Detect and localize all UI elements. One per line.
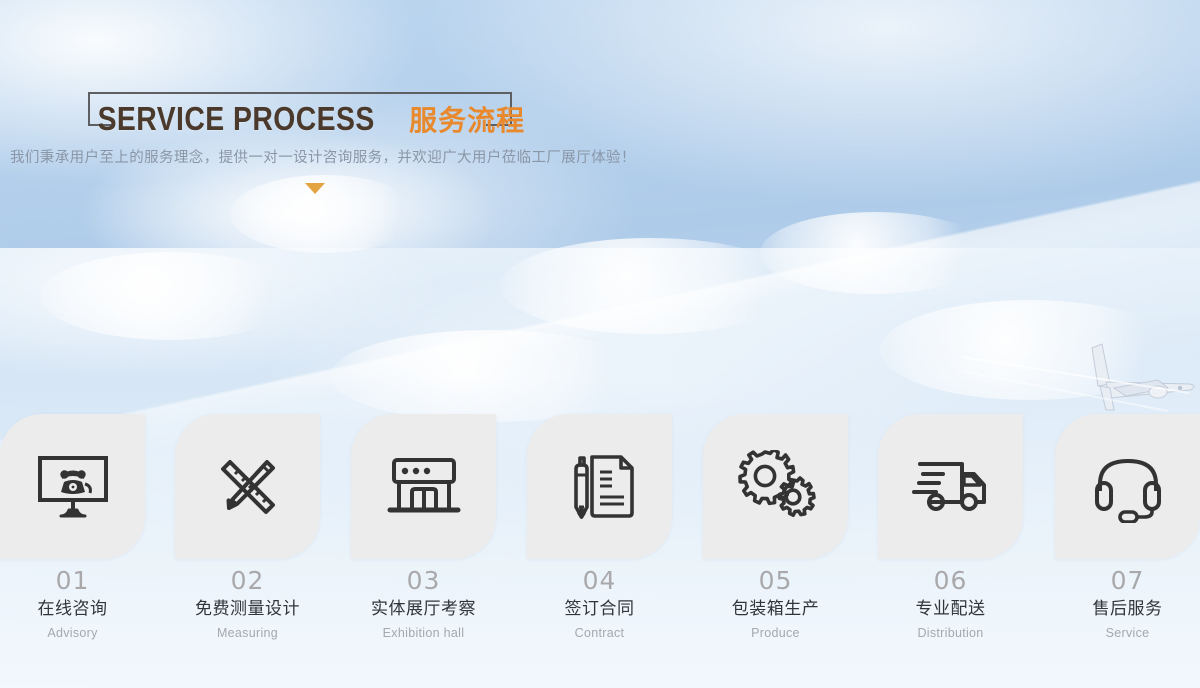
step-number: 02 (175, 566, 320, 596)
step-card-01[interactable] (0, 414, 145, 559)
step-card-02[interactable] (175, 414, 320, 559)
step-label-row: 01 在线咨询 Advisory 02 免费测量设计 Measuring 03 … (0, 566, 1200, 666)
step-card-07[interactable] (1055, 414, 1200, 559)
step-number: 01 (0, 566, 145, 596)
section-heading: SERVICE PROCESS 服务流程 (88, 92, 512, 146)
step-number: 05 (703, 566, 848, 596)
step-label-07: 07 售后服务 Service (1055, 566, 1200, 643)
step-number: 06 (878, 566, 1023, 596)
step-title-cn: 售后服务 (1055, 596, 1200, 623)
gears-icon (736, 450, 816, 524)
step-label-06: 06 专业配送 Distribution (878, 566, 1023, 643)
triangle-down-icon (305, 183, 325, 194)
step-card-03[interactable] (351, 414, 496, 559)
page-title: SERVICE PROCESS 服务流程 (88, 92, 512, 146)
step-label-04: 04 签订合同 Contract (527, 566, 672, 643)
step-card-04[interactable] (527, 414, 672, 559)
step-card-05[interactable] (703, 414, 848, 559)
step-title-cn: 签订合同 (527, 596, 672, 623)
step-title-cn: 在线咨询 (0, 596, 145, 623)
service-process-banner: SERVICE PROCESS 服务流程 我们秉承用户至上的服务理念，提供一对一… (0, 0, 1200, 688)
step-title-en: Contract (527, 623, 672, 643)
step-label-03: 03 实体展厅考察 Exhibition hall (351, 566, 496, 643)
step-label-02: 02 免费测量设计 Measuring (175, 566, 320, 643)
step-title-cn: 包装箱生产 (703, 596, 848, 623)
step-label-01: 01 在线咨询 Advisory (0, 566, 145, 643)
step-title-en: Distribution (878, 623, 1023, 643)
title-chinese: 服务流程 (409, 99, 525, 139)
step-card-row (0, 414, 1200, 559)
step-title-en: Exhibition hall (351, 623, 496, 643)
step-title-en: Measuring (175, 623, 320, 643)
step-title-en: Advisory (0, 623, 145, 643)
step-number: 07 (1055, 566, 1200, 596)
step-number: 03 (351, 566, 496, 596)
step-title-en: Service (1055, 623, 1200, 643)
step-label-05: 05 包装箱生产 Produce (703, 566, 848, 643)
section-subtitle: 我们秉承用户至上的服务理念，提供一对一设计咨询服务，并欢迎广大用户莅临工厂展厅体… (10, 146, 636, 167)
step-number: 04 (527, 566, 672, 596)
ruler-pencil-icon (211, 450, 285, 524)
pen-document-icon (563, 451, 637, 523)
monitor-phone-icon (35, 454, 111, 520)
storefront-icon (386, 456, 462, 518)
step-title-en: Produce (703, 623, 848, 643)
title-english: SERVICE PROCESS (97, 100, 374, 138)
step-card-06[interactable] (878, 414, 1023, 559)
step-title-cn: 免费测量设计 (175, 596, 320, 623)
delivery-truck-icon (910, 458, 992, 516)
step-title-cn: 实体展厅考察 (351, 596, 496, 623)
headset-icon (1092, 451, 1164, 523)
step-title-cn: 专业配送 (878, 596, 1023, 623)
